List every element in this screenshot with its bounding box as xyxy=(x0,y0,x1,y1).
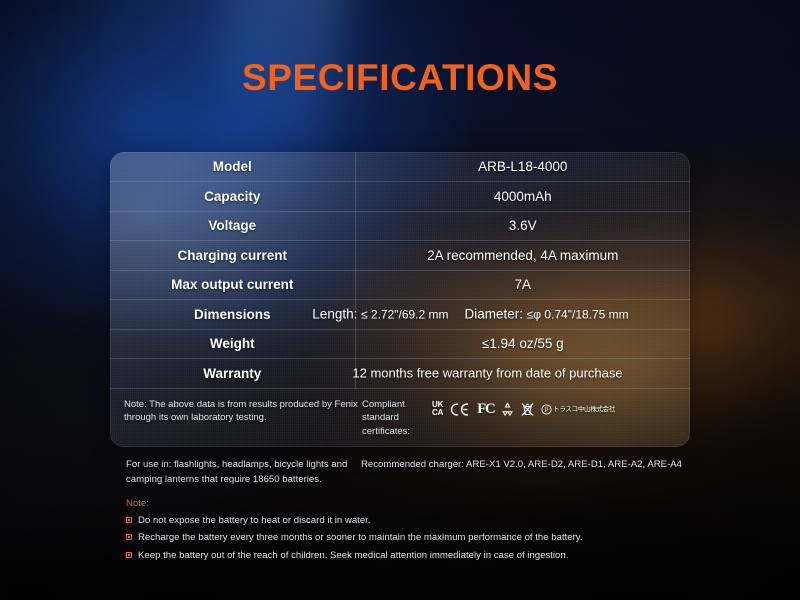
warnings-list: Do not expose the battery to heat or dis… xyxy=(126,514,726,565)
weee-crossed-bin-icon xyxy=(521,402,534,417)
length-value: ≤ 2.72"/69.2 mm xyxy=(361,308,449,322)
warning-text: Recharge the battery every three months … xyxy=(138,532,583,543)
table-row: Weight ≤1.94 oz/55 g xyxy=(110,329,690,359)
table-row: Max output current 7A xyxy=(110,270,690,300)
spec-label: Weight xyxy=(110,329,355,359)
bullet-square-icon xyxy=(126,552,132,558)
spec-value-dimensions: Length: ≤ 2.72"/69.2 mm Diameter: ≤φ 0.7… xyxy=(355,300,690,330)
table-row-warranty: Warranty 12 months free warranty from da… xyxy=(110,359,690,389)
spec-label: Max output current xyxy=(110,270,355,300)
spec-value: ARB-L18-4000 xyxy=(355,152,690,182)
length-label: Length: xyxy=(312,307,357,322)
table-row: Model ARB-L18-4000 xyxy=(110,152,690,182)
table-row: Voltage 3.6V xyxy=(110,211,690,241)
list-item: Keep the battery out of the reach of chi… xyxy=(126,549,726,564)
ce-icon xyxy=(450,402,470,417)
spec-value: ≤1.94 oz/55 g xyxy=(355,329,690,359)
recommended-charger-text: Recommended charger: ARE-X1 V2.0, ARE-D2… xyxy=(361,458,726,488)
spec-value-warranty: 12 months free warranty from date of pur… xyxy=(355,359,690,389)
recycle-icon xyxy=(501,402,514,416)
certificates-block: Compliant standard certificates: UK CA xyxy=(362,398,615,439)
diameter-value: ≤φ 0.74"/18.75 mm xyxy=(527,308,629,322)
table-row: Charging current 2A recommended, 4A maxi… xyxy=(110,241,690,271)
list-item: Do not expose the battery to heat or dis… xyxy=(126,514,726,529)
spec-label: Model xyxy=(110,152,355,182)
svg-text:P: P xyxy=(545,408,549,414)
note-heading: Note: xyxy=(126,497,726,512)
use-in-text: For use in: flashlights, headlamps, bicy… xyxy=(126,458,361,488)
list-item: Recharge the battery every three months … xyxy=(126,531,726,546)
certificate-marks: UK CA FC xyxy=(432,399,615,421)
spec-label: Capacity xyxy=(110,182,355,212)
below-panel-notes: For use in: flashlights, headlamps, bicy… xyxy=(126,458,726,567)
specifications-panel: Model ARB-L18-4000 Capacity 4000mAh Volt… xyxy=(110,152,690,447)
spec-value: 2A recommended, 4A maximum xyxy=(355,241,690,271)
pse-company-name: トラスコ中山株式会社 xyxy=(553,405,615,414)
spec-value: 3.6V xyxy=(355,211,690,241)
usage-row: For use in: flashlights, headlamps, bicy… xyxy=(126,458,726,488)
certificates-label: Compliant standard certificates: xyxy=(362,398,424,439)
table-row-dimensions: Dimensions Length: ≤ 2.72"/69.2 mm Diame… xyxy=(110,300,690,330)
specifications-table: Model ARB-L18-4000 Capacity 4000mAh Volt… xyxy=(110,152,690,389)
panel-footer: Note: The above data is from results pro… xyxy=(110,389,690,439)
bullet-square-icon xyxy=(126,517,132,523)
lab-test-note: Note: The above data is from results pro… xyxy=(124,398,362,439)
spec-label: Voltage xyxy=(110,211,355,241)
spec-value: 4000mAh xyxy=(355,182,690,212)
warranty-text: 12 months free warranty from date of pur… xyxy=(278,366,691,381)
bullet-square-icon xyxy=(126,534,132,540)
table-row: Capacity 4000mAh xyxy=(110,182,690,212)
page-title: SPECIFICATIONS xyxy=(0,57,800,99)
fcc-icon: FC xyxy=(477,399,494,421)
ukca-icon: UK CA xyxy=(432,401,443,418)
warning-text: Keep the battery out of the reach of chi… xyxy=(138,550,568,561)
spec-value: 7A xyxy=(355,270,690,300)
diameter-label: Diameter: xyxy=(465,307,524,322)
pse-icon: P トラスコ中山株式会社 xyxy=(541,404,615,415)
spec-label: Charging current xyxy=(110,241,355,271)
warning-text: Do not expose the battery to heat or dis… xyxy=(138,515,371,526)
ukca-line2: CA xyxy=(432,408,443,417)
